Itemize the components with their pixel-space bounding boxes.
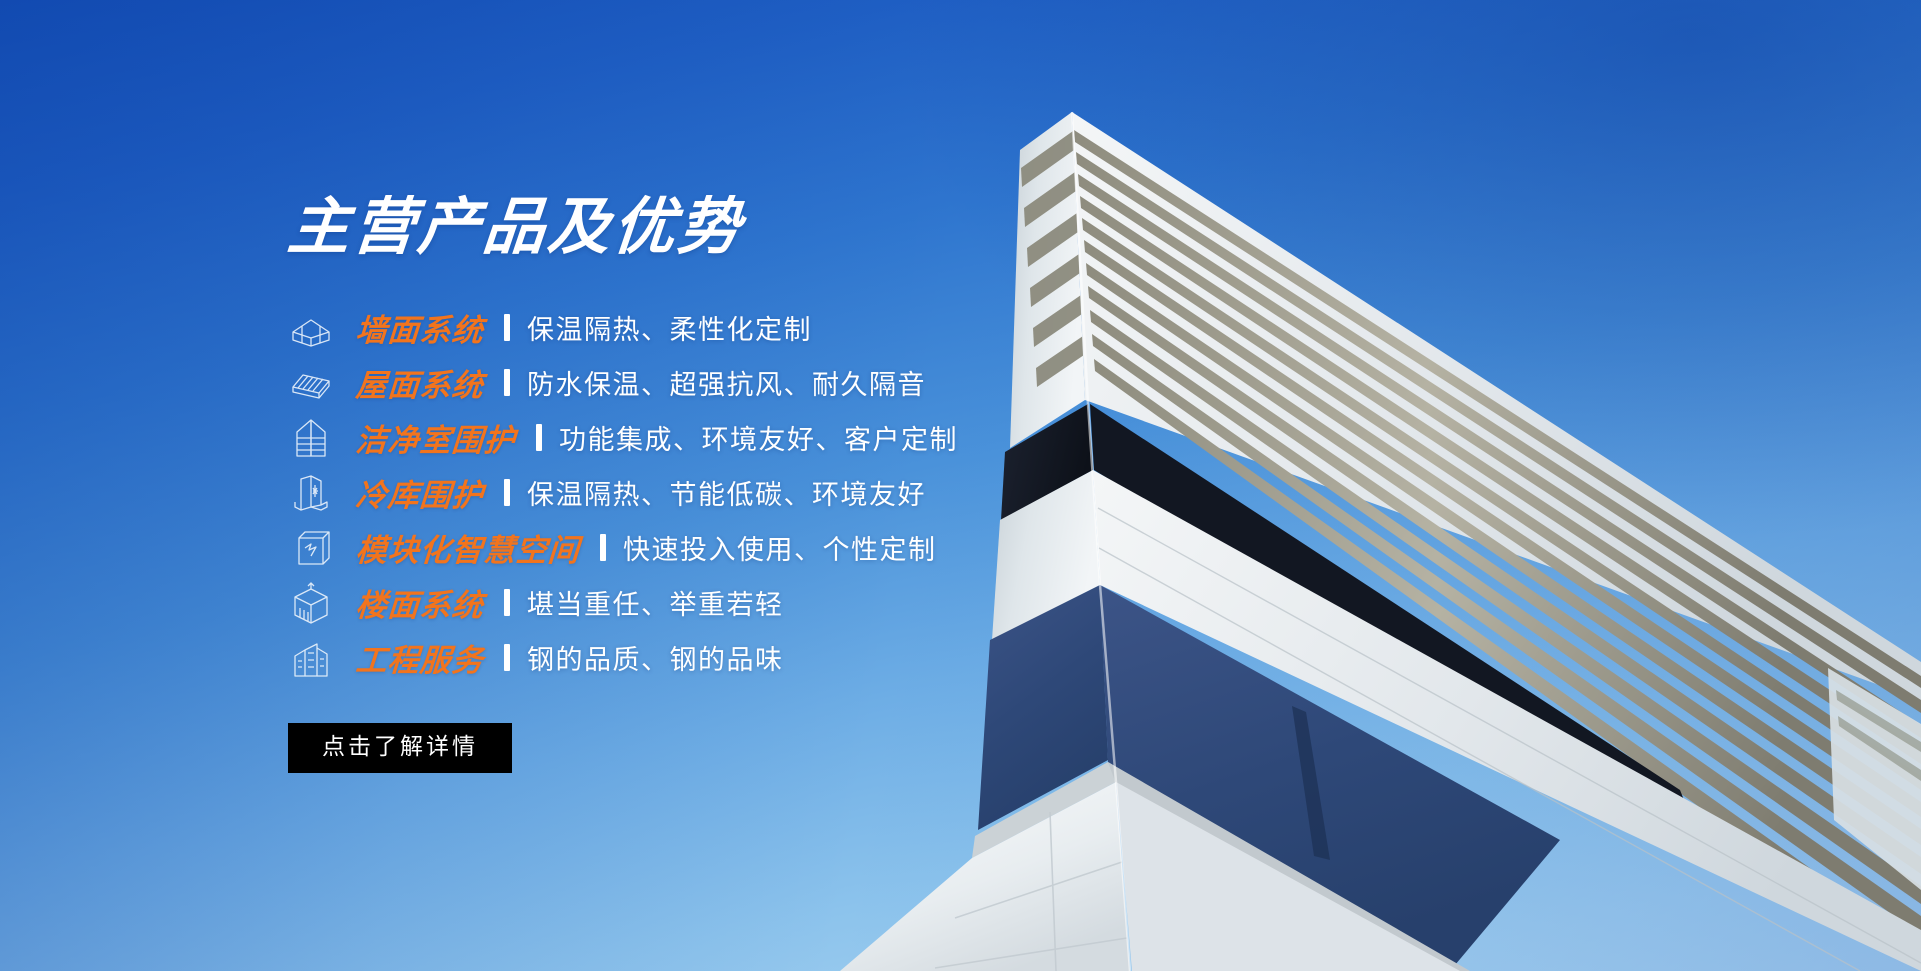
label-separator <box>536 424 542 451</box>
product-advantage-banner: 主营产品及优势 墙面系统 保温隔热、柔性化定制 <box>0 0 1921 971</box>
product-desc: 堪当重任、举重若轻 <box>527 583 784 622</box>
product-label: 冷库围护 <box>354 470 485 515</box>
product-label: 洁净室围护 <box>354 415 517 460</box>
banner-content: 主营产品及优势 墙面系统 保温隔热、柔性化定制 <box>288 196 1288 773</box>
list-item[interactable]: 墙面系统 保温隔热、柔性化定制 <box>288 300 1288 355</box>
label-separator <box>600 534 606 561</box>
cleanroom-building-icon <box>288 415 334 461</box>
engineering-service-icon <box>288 635 334 681</box>
roof-panel-icon <box>288 360 334 406</box>
label-separator <box>504 369 510 396</box>
product-label: 模块化智慧空间 <box>354 525 581 570</box>
modular-box-icon <box>288 525 334 571</box>
list-item[interactable]: 洁净室围护 功能集成、环境友好、客户定制 <box>288 410 1288 465</box>
coldstore-icon <box>288 470 334 516</box>
product-label: 墙面系统 <box>354 305 485 350</box>
list-item[interactable]: 冷库围护 保温隔热、节能低碳、环境友好 <box>288 465 1288 520</box>
learn-more-button[interactable]: 点击了解详情 <box>288 723 512 773</box>
product-desc: 保温隔热、节能低碳、环境友好 <box>527 473 926 512</box>
product-desc: 防水保温、超强抗风、耐久隔音 <box>527 363 926 402</box>
floor-deck-icon <box>288 580 334 626</box>
label-separator <box>504 589 510 616</box>
product-desc: 保温隔热、柔性化定制 <box>527 308 812 347</box>
product-list: 墙面系统 保温隔热、柔性化定制 屋面系统 防水保温、超强抗风、耐久隔音 <box>288 300 1288 685</box>
list-item[interactable]: 屋面系统 防水保温、超强抗风、耐久隔音 <box>288 355 1288 410</box>
product-label: 屋面系统 <box>354 360 485 405</box>
building-right-wing <box>1828 668 1921 890</box>
list-item[interactable]: 工程服务 钢的品质、钢的品味 <box>288 630 1288 685</box>
label-separator <box>504 479 510 506</box>
label-separator <box>504 644 510 671</box>
product-desc: 钢的品质、钢的品味 <box>527 638 784 677</box>
product-label: 楼面系统 <box>354 580 485 625</box>
page-title: 主营产品及优势 <box>285 196 1290 258</box>
product-label: 工程服务 <box>354 635 485 680</box>
list-item[interactable]: 楼面系统 堪当重任、举重若轻 <box>288 575 1288 630</box>
product-desc: 功能集成、环境友好、客户定制 <box>559 418 958 457</box>
product-desc: 快速投入使用、个性定制 <box>623 528 937 567</box>
wall-panel-icon <box>288 305 334 351</box>
list-item[interactable]: 模块化智慧空间 快速投入使用、个性定制 <box>288 520 1288 575</box>
label-separator <box>504 314 510 341</box>
cta-container: 点击了解详情 <box>288 723 1288 773</box>
